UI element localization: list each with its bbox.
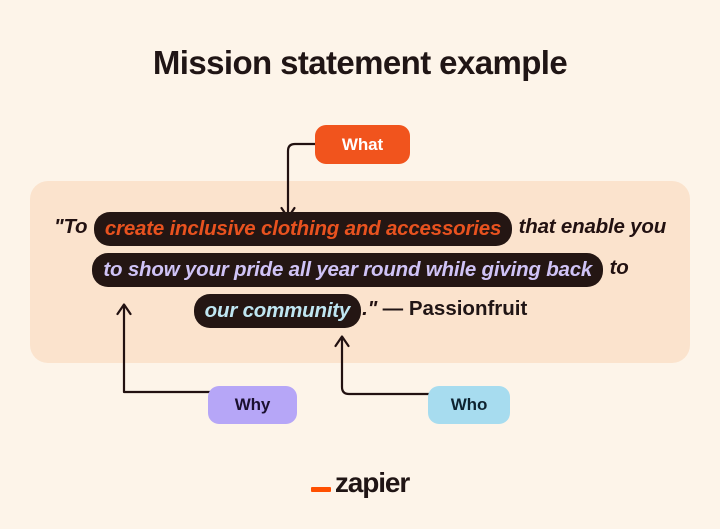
quote-close: ." — [362, 297, 377, 320]
quote-mid-2: to — [610, 256, 629, 279]
highlight-who-phrase: our community — [194, 294, 361, 328]
badge-who[interactable]: Who — [428, 386, 510, 424]
infographic-canvas: Mission statement example "To create inc… — [0, 0, 720, 529]
page-title: Mission statement example — [0, 44, 720, 82]
zapier-underscore-icon — [311, 487, 331, 492]
zapier-wordmark: zapier — [335, 467, 409, 499]
mission-statement-quote: "To create inclusive clothing and access… — [30, 206, 690, 329]
badge-why[interactable]: Why — [208, 386, 297, 424]
badge-what[interactable]: What — [315, 125, 410, 164]
quote-mid-1: that enable — [519, 215, 625, 238]
highlight-what-phrase: create inclusive clothing and accessorie… — [94, 212, 512, 246]
quote-attribution: — Passionfruit — [383, 297, 528, 320]
zapier-logo: zapier — [0, 467, 720, 499]
quote-open: "To — [54, 215, 87, 238]
highlight-why-phrase: to show your pride all year round while … — [92, 253, 603, 287]
quote-pronoun: you — [630, 215, 666, 238]
